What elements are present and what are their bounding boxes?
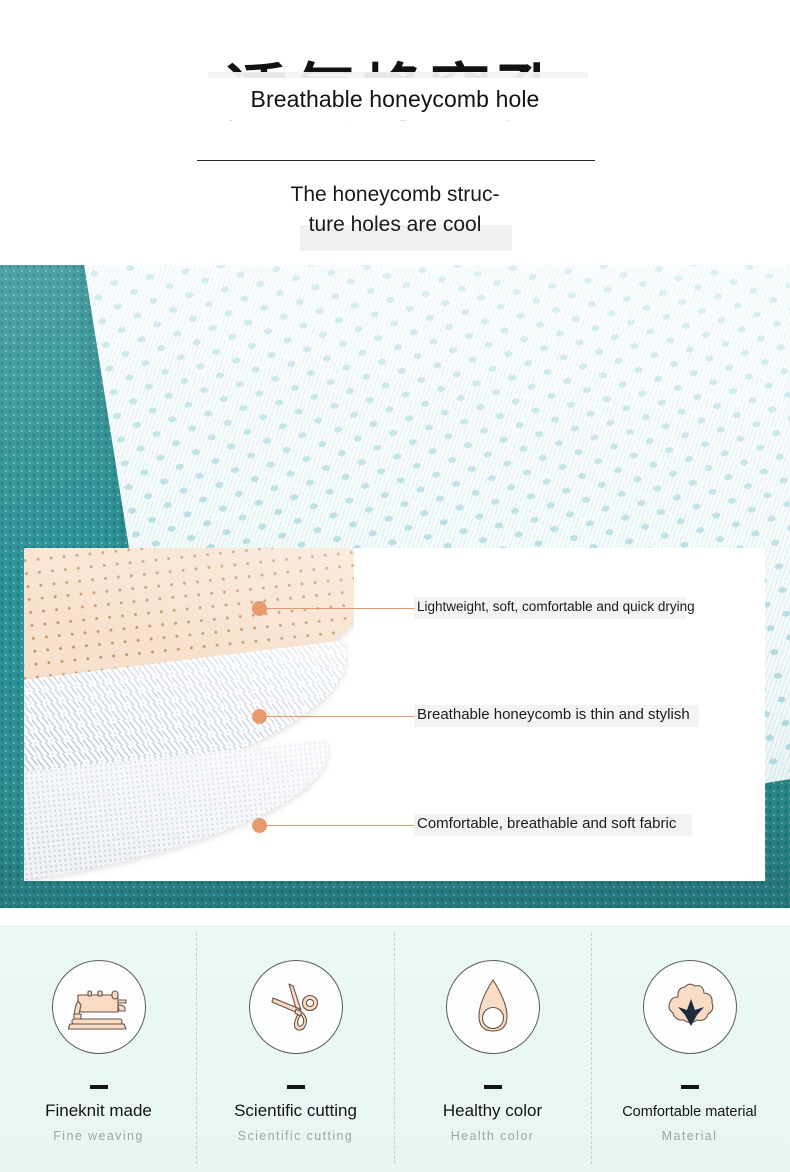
fabric-layers-card: Lightweight, soft, comfortable and quick… [24,548,765,881]
feature-icon-frame-4 [643,960,737,1054]
feature-icon-frame-2 [249,960,343,1054]
cotton-boll-icon [659,980,721,1034]
callout-leader-line-2 [267,716,417,717]
subtitle-line-2: ture holes are cool [195,210,595,240]
section-gap [0,908,790,925]
water-drop-icon [469,976,517,1038]
subtitle-line-1: The honeycomb struc- [195,180,595,210]
feature-icon-frame-3 [446,960,540,1054]
feature-item-comfortable-material[interactable]: Comfortable material Material [591,925,788,1172]
feature-title-1: Fineknit made [0,1101,197,1121]
header-section: 透气蜂窝孔 Breathable honeycomb hole The hone… [0,0,790,265]
callout-dot-3 [252,818,267,833]
product-detail-page: 透气蜂窝孔 Breathable honeycomb hole The hone… [0,0,790,1172]
feature-item-scientific-cutting[interactable]: Scientific cutting Scientific cutting [197,925,394,1172]
feature-subtitle-2: Scientific cutting [197,1129,394,1143]
feature-subtitle-4: Material [591,1129,788,1143]
callout-dot-2 [252,709,267,724]
callout-leader-line-1 [267,608,417,609]
page-title: Breathable honeycomb hole [0,86,790,113]
feature-title-2: Scientific cutting [197,1101,394,1121]
feature-dash-3 [484,1085,502,1089]
callout-leader-line-3 [267,825,417,826]
features-section: Fineknit made Fine weaving [0,925,790,1172]
feature-item-fineknit-made[interactable]: Fineknit made Fine weaving [0,925,197,1172]
callout-text-2: Breathable honeycomb is thin and stylish [417,706,690,723]
page-subtitle: The honeycomb struc- ture holes are cool [195,180,595,241]
feature-item-healthy-color[interactable]: Healthy color Health color [394,925,591,1172]
title-divider [197,160,595,161]
feature-title-3: Healthy color [394,1101,591,1121]
feature-dash-1 [90,1085,108,1089]
feature-dash-4 [681,1085,699,1089]
feature-dash-2 [287,1085,305,1089]
headline-whiteout-band-lower [150,132,650,152]
callout-text-3: Comfortable, breathable and soft fabric [417,815,676,832]
scissors-icon [267,978,325,1036]
callout-text-1: Lightweight, soft, comfortable and quick… [417,599,695,614]
callout-dot-1 [252,601,267,616]
feature-title-4: Comfortable material [591,1104,788,1120]
sewing-machine-icon [68,981,130,1033]
fabric-layer-illustration [24,548,354,881]
feature-subtitle-1: Fine weaving [0,1129,197,1143]
feature-icon-frame-1 [52,960,146,1054]
feature-subtitle-3: Health color [394,1129,591,1143]
